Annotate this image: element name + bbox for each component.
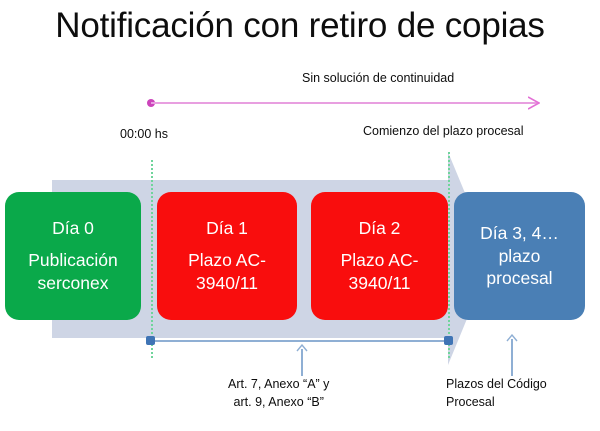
callout-label-right: Plazos del Código Procesal — [446, 375, 547, 411]
day-box-line2: plazo — [499, 245, 541, 268]
day-box-dia-0[interactable]: Día 0 Publicación serconex — [5, 192, 141, 320]
measure-dot-right — [444, 336, 453, 345]
arrow-stem — [511, 339, 513, 376]
measure-dot-left — [146, 336, 155, 345]
day-box-line3: serconex — [37, 272, 108, 295]
day-box-title: Día 3, 4… — [480, 222, 559, 245]
timeline-line — [151, 102, 537, 104]
callout-arrow-right — [506, 334, 518, 376]
guide-line-start — [151, 160, 153, 358]
day-box-line2: Plazo AC- — [341, 249, 419, 272]
callout-label-left: Art. 7, Anexo “A” y art. 9, Anexo “B” — [228, 375, 329, 411]
arrow-stem — [301, 349, 303, 376]
timeline-top-label: Sin solución de continuidad — [302, 71, 454, 85]
day-box-title: Día 1 — [206, 217, 248, 240]
day-box-line3: 3940/11 — [349, 272, 411, 295]
timeline-end-label: Comienzo del plazo procesal — [363, 124, 524, 138]
day-box-dia-1[interactable]: Día 1 Plazo AC- 3940/11 — [157, 192, 297, 320]
day-box-title: Día 2 — [359, 217, 401, 240]
day-box-line3: 3940/11 — [196, 272, 258, 295]
day-box-line2: Publicación — [28, 249, 118, 272]
page-title: Notificación con retiro de copias — [0, 6, 600, 46]
slide-canvas: Notificación con retiro de copias Sin so… — [0, 0, 600, 431]
day-box-line2: Plazo AC- — [188, 249, 266, 272]
day-box-dia-3-4[interactable]: Día 3, 4… plazo procesal — [454, 192, 585, 320]
timeline-start-label: 00:00 hs — [120, 127, 168, 141]
guide-line-end — [448, 152, 450, 358]
day-box-dia-2[interactable]: Día 2 Plazo AC- 3940/11 — [311, 192, 448, 320]
measure-line — [150, 340, 449, 342]
callout-arrow-left — [296, 344, 308, 376]
day-box-line3: procesal — [486, 267, 552, 290]
day-box-title: Día 0 — [52, 217, 94, 240]
timeline-arrowhead-icon — [528, 95, 540, 111]
